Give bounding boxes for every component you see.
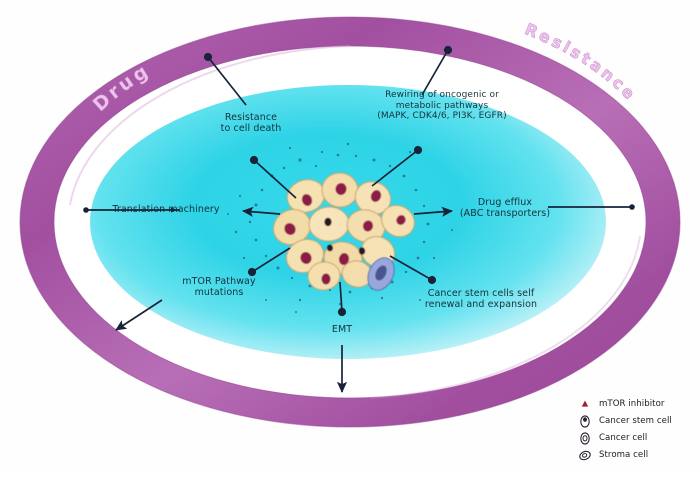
annotation-line: Drug efflux bbox=[452, 197, 558, 208]
annotation-line: to cell death bbox=[192, 123, 310, 134]
annotation-line: renewal and expansion bbox=[406, 299, 556, 310]
legend-item-mtor-inhibitor: mTOR inhibitor bbox=[575, 396, 697, 412]
legend-item-stroma-cell: Stroma cell bbox=[575, 447, 697, 463]
legend-label: Stroma cell bbox=[595, 450, 648, 460]
cancer-cell-icon bbox=[575, 431, 595, 446]
legend-item-cancer-stem-cell: Cancer stem cell bbox=[575, 413, 697, 429]
annotation-resistance-to-cell-death: Resistance to cell death bbox=[192, 112, 310, 134]
annotation-line: (ABC transporters) bbox=[452, 208, 558, 219]
annotation-line: metabolic pathways bbox=[352, 101, 532, 112]
stroma-cell-icon bbox=[575, 448, 595, 463]
annotation-mtor-pathway-mutations: mTOR Pathway mutations bbox=[160, 276, 278, 298]
figure-canvas: Drug Resistance Resistance to cell death… bbox=[0, 0, 700, 474]
annotation-line: Rewiring of oncogenic or bbox=[352, 90, 532, 101]
annotation-line: EMT bbox=[320, 324, 364, 335]
annotation-line: Resistance bbox=[192, 112, 310, 123]
annotation-line: mutations bbox=[160, 287, 278, 298]
annotation-line: Cancer stem cells self bbox=[406, 288, 556, 299]
annotation-rewiring-pathways: Rewiring of oncogenic or metabolic pathw… bbox=[352, 90, 532, 122]
annotation-line: mTOR Pathway bbox=[160, 276, 278, 287]
legend-item-cancer-cell: Cancer cell bbox=[575, 430, 697, 446]
legend: mTOR inhibitor Cancer stem cell Cancer c… bbox=[575, 396, 697, 464]
annotation-cancer-stem-cells: Cancer stem cells self renewal and expan… bbox=[406, 288, 556, 310]
annotation-line: (MAPK, CDK4/6, PI3K, EGFR) bbox=[352, 111, 532, 122]
annotation-emt: EMT bbox=[320, 324, 364, 335]
legend-label: Cancer stem cell bbox=[595, 416, 672, 426]
annotation-translation-machinery: Translation machinery bbox=[96, 204, 236, 215]
annotation-line: Translation machinery bbox=[96, 204, 236, 215]
legend-label: Cancer cell bbox=[595, 433, 647, 443]
legend-label: mTOR inhibitor bbox=[595, 399, 664, 409]
mtor-inhibitor-icon bbox=[575, 397, 595, 412]
annotation-drug-efflux: Drug efflux (ABC transporters) bbox=[452, 197, 558, 219]
cancer-stem-cell-icon bbox=[575, 414, 595, 429]
